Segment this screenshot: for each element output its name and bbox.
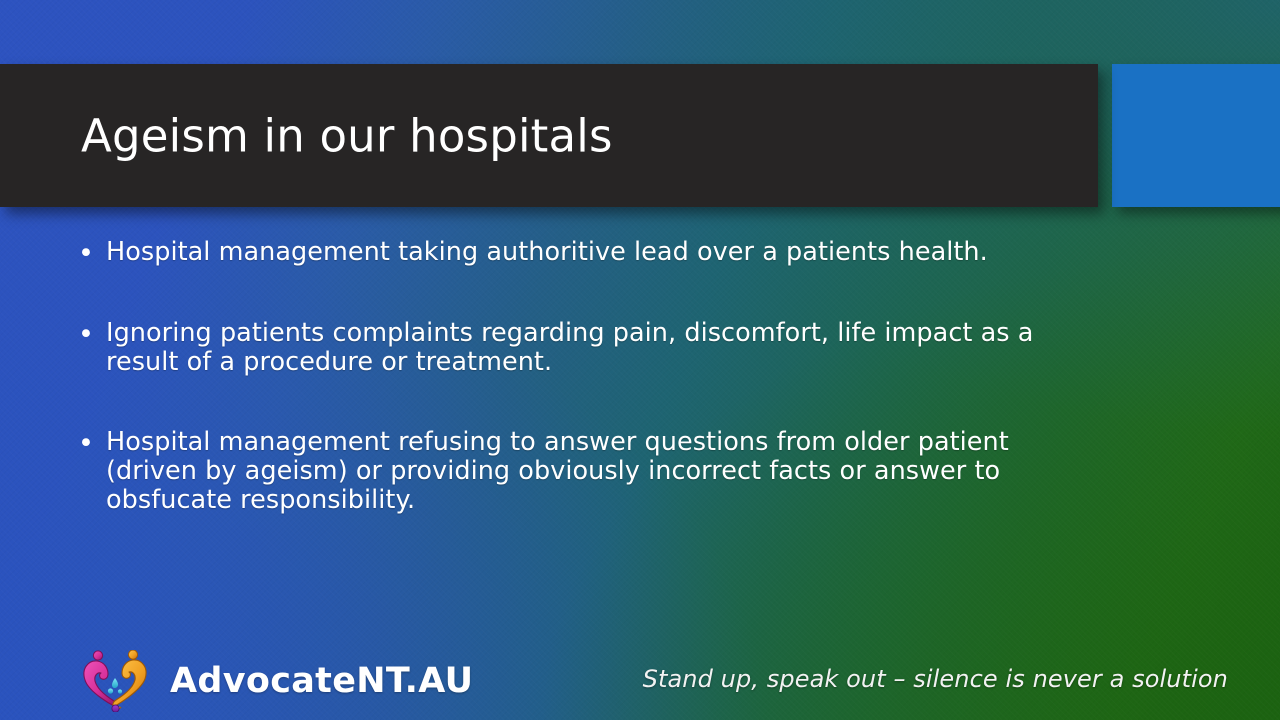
list-item-text: Hospital management refusing to answer q… bbox=[106, 428, 1088, 515]
list-item: • Ignoring patients complaints regarding… bbox=[78, 319, 1088, 377]
presentation-slide: Ageism in our hospitals • Hospital manag… bbox=[0, 0, 1280, 720]
list-item-line: Hospital management refusing to answer q… bbox=[106, 428, 1088, 457]
list-item-line: Hospital management taking authoritive l… bbox=[106, 238, 1088, 267]
two-figures-heart-logo-icon bbox=[80, 650, 154, 712]
list-item-line: (driven by ageism) or providing obviousl… bbox=[106, 457, 1088, 486]
list-item-line: obsfucate responsibility. bbox=[106, 486, 1088, 515]
tagline: Stand up, speak out – silence is never a… bbox=[643, 665, 1228, 693]
list-item-line: result of a procedure or treatment. bbox=[106, 348, 1088, 377]
bullet-list: • Hospital management taking authoritive… bbox=[78, 238, 1088, 515]
brand-lockup: AdvocateNT.AU bbox=[80, 650, 473, 712]
blue-accent-rectangle bbox=[1112, 64, 1280, 207]
dark-title-bar: Ageism in our hospitals bbox=[0, 64, 1098, 207]
list-item: • Hospital management refusing to answer… bbox=[78, 428, 1088, 515]
page-title: Ageism in our hospitals bbox=[81, 109, 613, 162]
list-item-text: Ignoring patients complaints regarding p… bbox=[106, 319, 1088, 377]
bullet-marker-icon: • bbox=[78, 238, 106, 268]
list-item-text: Hospital management taking authoritive l… bbox=[106, 238, 1088, 267]
list-item-line: Ignoring patients complaints regarding p… bbox=[106, 319, 1088, 348]
bullet-marker-icon: • bbox=[78, 428, 106, 458]
bullet-marker-icon: • bbox=[78, 319, 106, 349]
brand-name: AdvocateNT.AU bbox=[170, 664, 473, 699]
list-item: • Hospital management taking authoritive… bbox=[78, 238, 1088, 268]
